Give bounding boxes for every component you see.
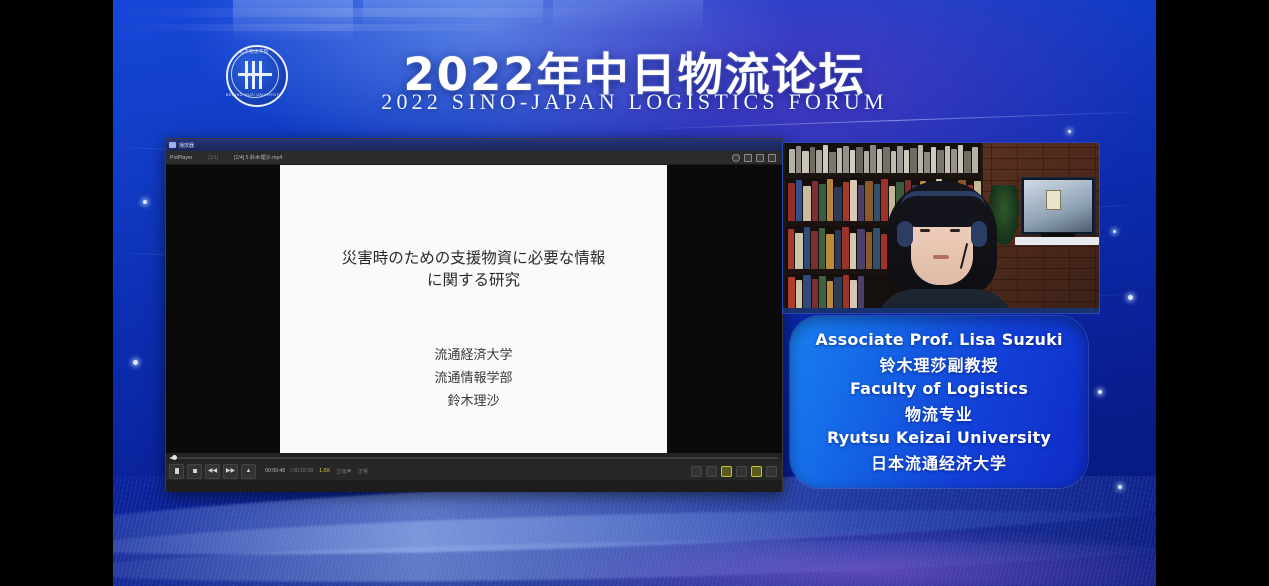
presentation-slide: 災害時のための支援物資に必要な情報 に関する研究 流通経済大学 流通情報学部 鈴… <box>280 165 667 453</box>
player-title-bar[interactable]: 播放器 <box>166 139 782 151</box>
menu-app-name[interactable]: PotPlayer <box>170 155 193 161</box>
stop-button[interactable] <box>187 464 202 479</box>
player-status-bar <box>166 480 782 492</box>
menu-separator: - <box>200 155 202 161</box>
backdrop-streak <box>113 8 633 17</box>
minimize-button[interactable] <box>732 154 740 162</box>
settings-icon[interactable] <box>736 466 747 477</box>
restore-button[interactable] <box>756 154 764 162</box>
player-control-bar[interactable]: ◀◀ ▶▶ ▲ 00:00:48 / 00:15:09 1.0X 立体声 正常 <box>166 462 782 480</box>
player-seek-bar[interactable] <box>166 453 782 462</box>
slide-presenter-name: 鈴木理沙 <box>434 390 512 413</box>
backdrop-streak <box>113 24 543 31</box>
backdrop-particle <box>133 360 138 365</box>
backdrop-particle <box>1128 295 1133 300</box>
letterbox-bar-left <box>0 0 113 586</box>
next-button[interactable]: ▶▶ <box>223 464 238 479</box>
monitor-picture-frame <box>1046 190 1061 210</box>
open-file-button[interactable]: ▲ <box>241 464 256 479</box>
forum-title-english: 2022 SINO-JAPAN LOGISTICS FORUM <box>113 89 1156 115</box>
subtitle-icon[interactable] <box>691 466 702 477</box>
mouth <box>933 255 949 259</box>
player-video-area[interactable]: 災害時のための支援物資に必要な情報 に関する研究 流通経済大学 流通情報学部 鈴… <box>166 165 782 453</box>
banner-line-name-en: Associate Prof. Lisa Suzuki <box>815 330 1062 349</box>
player-right-controls[interactable] <box>691 466 779 477</box>
menu-separator: - <box>225 155 227 161</box>
eye-right <box>950 229 960 232</box>
close-button[interactable] <box>768 154 776 162</box>
audio-icon[interactable] <box>706 466 717 477</box>
backdrop-particle <box>143 200 147 204</box>
speaker-name-banner: Associate Prof. Lisa Suzuki 铃木理莎副教授 Facu… <box>790 316 1088 488</box>
backdrop-wave-pattern <box>113 476 1156 586</box>
headphone-cup-right <box>971 221 987 247</box>
player-title-text: 播放器 <box>179 142 194 149</box>
video-mode-label[interactable]: 正常 <box>358 468 368 475</box>
headphone-band <box>901 191 985 207</box>
potplayer-window[interactable]: 播放器 PotPlayer - [1/1] - [1/4] 5 鈴木理沙.mp4… <box>165 138 783 492</box>
playlist-icon[interactable] <box>721 466 732 477</box>
banner-line-faculty-en: Faculty of Logistics <box>850 379 1028 398</box>
banner-line-faculty-cn: 物流专业 <box>905 401 973 425</box>
total-time-label: / 00:15:09 <box>290 468 313 474</box>
playback-speed-label[interactable]: 1.0X <box>319 468 330 474</box>
backdrop-particle <box>1113 230 1116 233</box>
webcam-bottom-strip <box>783 308 1099 313</box>
banner-line-university-en: Ryutsu Keizai University <box>827 428 1051 447</box>
banner-line-university-cn: 日本流通经济大学 <box>871 450 1007 474</box>
banner-line-name-cn: 铃木理莎副教授 <box>879 352 998 376</box>
potplayer-icon <box>169 142 176 148</box>
headphone-cup-left <box>897 221 913 247</box>
letterbox-bar-right <box>1156 0 1269 586</box>
slide-affiliation: 流通経済大学 流通情報学部 鈴木理沙 <box>434 344 512 413</box>
audio-mode-label[interactable]: 立体声 <box>336 468 352 475</box>
backdrop-glow-block <box>233 0 353 42</box>
player-menu-bar[interactable]: PotPlayer - [1/1] - [1/4] 5 鈴木理沙.mp4 <box>166 151 782 165</box>
window-controls[interactable] <box>732 154 778 162</box>
menu-playlist-count: [1/1] <box>208 155 218 161</box>
backdrop-glow-block <box>553 0 703 34</box>
seek-handle[interactable] <box>172 455 177 460</box>
maximize-button[interactable] <box>744 154 752 162</box>
backdrop-particle <box>1068 130 1071 133</box>
slide-university: 流通経済大学 <box>434 344 512 367</box>
previous-button[interactable]: ◀◀ <box>205 464 220 479</box>
pause-button[interactable] <box>169 464 184 479</box>
fullscreen-icon[interactable] <box>751 466 762 477</box>
current-time-label: 00:00:48 <box>265 468 285 474</box>
more-icon[interactable] <box>766 466 777 477</box>
backdrop-particle <box>1098 390 1102 394</box>
eye-left <box>920 229 930 232</box>
desk-surface <box>1015 237 1099 245</box>
screen-capture: 北京物流学院 BEIJING WUZI UNIVERSITY 2022年中日物流… <box>0 0 1269 586</box>
seek-track[interactable] <box>170 457 778 459</box>
menu-file-name[interactable]: [1/4] 5 鈴木理沙.mp4 <box>234 154 282 161</box>
slide-title-line-2: に関する研究 <box>309 269 639 291</box>
wall-monitor <box>1021 177 1095 235</box>
slide-faculty: 流通情報学部 <box>434 367 512 390</box>
slide-title: 災害時のための支援物資に必要な情報 に関する研究 <box>309 247 639 292</box>
shelf-row <box>785 143 981 173</box>
slide-title-line-1: 災害時のための支援物資に必要な情報 <box>309 247 639 269</box>
speaker-webcam-feed[interactable] <box>782 142 1100 314</box>
speaker-person <box>879 181 1005 313</box>
